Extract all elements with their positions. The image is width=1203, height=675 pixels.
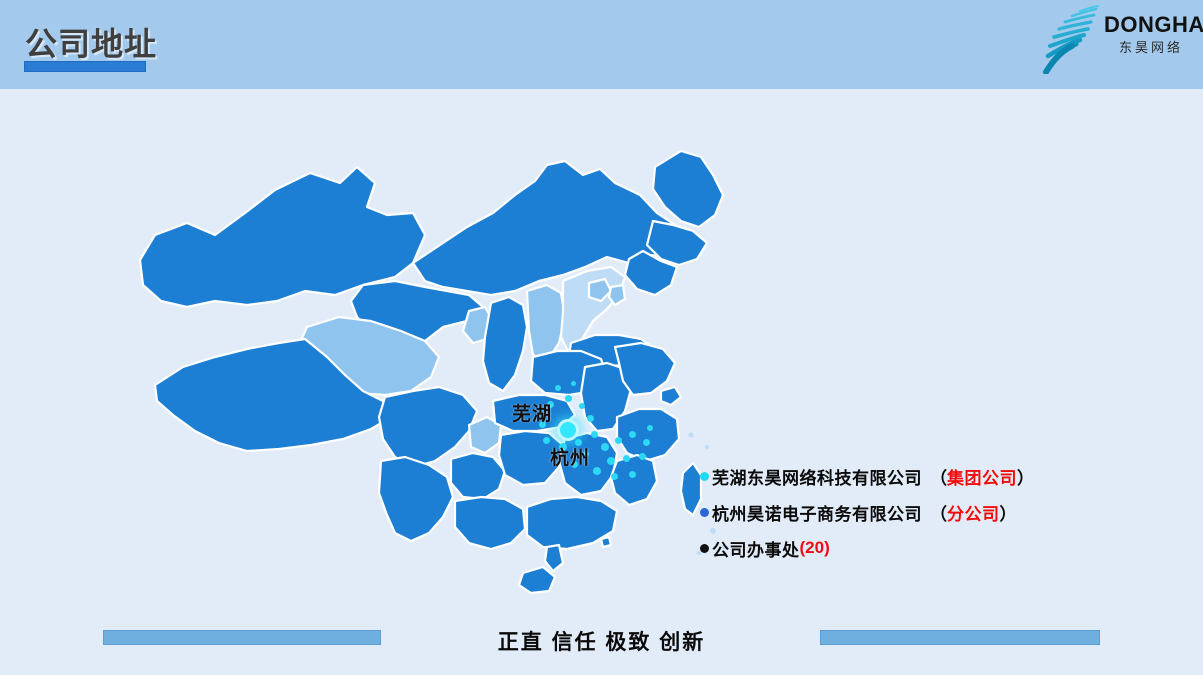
office-dot[interactable]	[607, 457, 615, 465]
legend-item-group-company[interactable]: 芜湖东昊网络科技有限公司 （ 集团公司 ）	[700, 458, 1100, 494]
office-dot[interactable]	[543, 437, 550, 444]
page-title: 公司地址	[25, 19, 157, 65]
legend-paren-open: （	[930, 464, 947, 489]
office-dot[interactable]	[591, 431, 598, 438]
footer: 正直 信任 极致 创新	[0, 626, 1203, 650]
title-underline	[24, 61, 146, 72]
logo-wordmark: DONGHAO	[1104, 12, 1198, 38]
office-dot[interactable]	[593, 467, 601, 475]
header-band: 公司地址 DONGHAO 东昊网络	[0, 0, 1203, 89]
legend-bullet-blue	[700, 508, 709, 517]
office-dot[interactable]	[601, 443, 609, 451]
office-dot[interactable]	[647, 425, 653, 431]
legend-label: 公司办事处	[712, 536, 800, 561]
legend-paren-open: （	[930, 500, 947, 525]
office-dot[interactable]	[639, 453, 646, 460]
legend-tag: 集团公司	[947, 464, 1017, 489]
footer-bar-right	[820, 630, 1100, 645]
office-dot[interactable]	[623, 455, 630, 462]
map-stage: 芜湖 杭州	[95, 95, 755, 615]
office-dot[interactable]	[629, 431, 636, 438]
office-dot[interactable]	[555, 385, 561, 391]
office-dot[interactable]	[643, 439, 650, 446]
office-dot[interactable]	[565, 395, 572, 402]
office-dot[interactable]	[579, 403, 585, 409]
office-dot[interactable]	[611, 473, 618, 480]
legend: 芜湖东昊网络科技有限公司 （ 集团公司 ） 杭州昊诺电子商务有限公司 （ 分公司…	[700, 458, 1100, 566]
office-dot[interactable]	[571, 381, 576, 386]
logo-subtitle: 东昊网络	[1104, 38, 1198, 58]
map-label-wuhu: 芜湖	[512, 399, 552, 426]
legend-item-branch-company[interactable]: 杭州昊诺电子商务有限公司 （ 分公司 ）	[700, 494, 1100, 530]
office-dot[interactable]	[615, 437, 622, 444]
feather-fan-icon	[1042, 4, 1104, 74]
office-dot[interactable]	[587, 415, 594, 422]
hub-marker-wuhu[interactable]	[557, 419, 579, 441]
company-logo: DONGHAO 东昊网络	[1042, 4, 1197, 76]
china-map[interactable]	[95, 95, 755, 615]
legend-bullet-cyan	[700, 472, 709, 481]
legend-item-offices[interactable]: 公司办事处 (20)	[700, 530, 1100, 566]
legend-count: (20)	[800, 538, 830, 558]
legend-label: 芜湖东昊网络科技有限公司	[712, 464, 922, 489]
legend-tag: 分公司	[947, 500, 1000, 525]
legend-label: 杭州昊诺电子商务有限公司	[712, 500, 922, 525]
map-label-hangzhou: 杭州	[550, 443, 590, 470]
legend-paren-close: ）	[1017, 464, 1035, 489]
office-dot[interactable]	[629, 471, 636, 478]
legend-bullet-black	[700, 544, 709, 553]
legend-paren-close: ）	[1000, 500, 1018, 525]
